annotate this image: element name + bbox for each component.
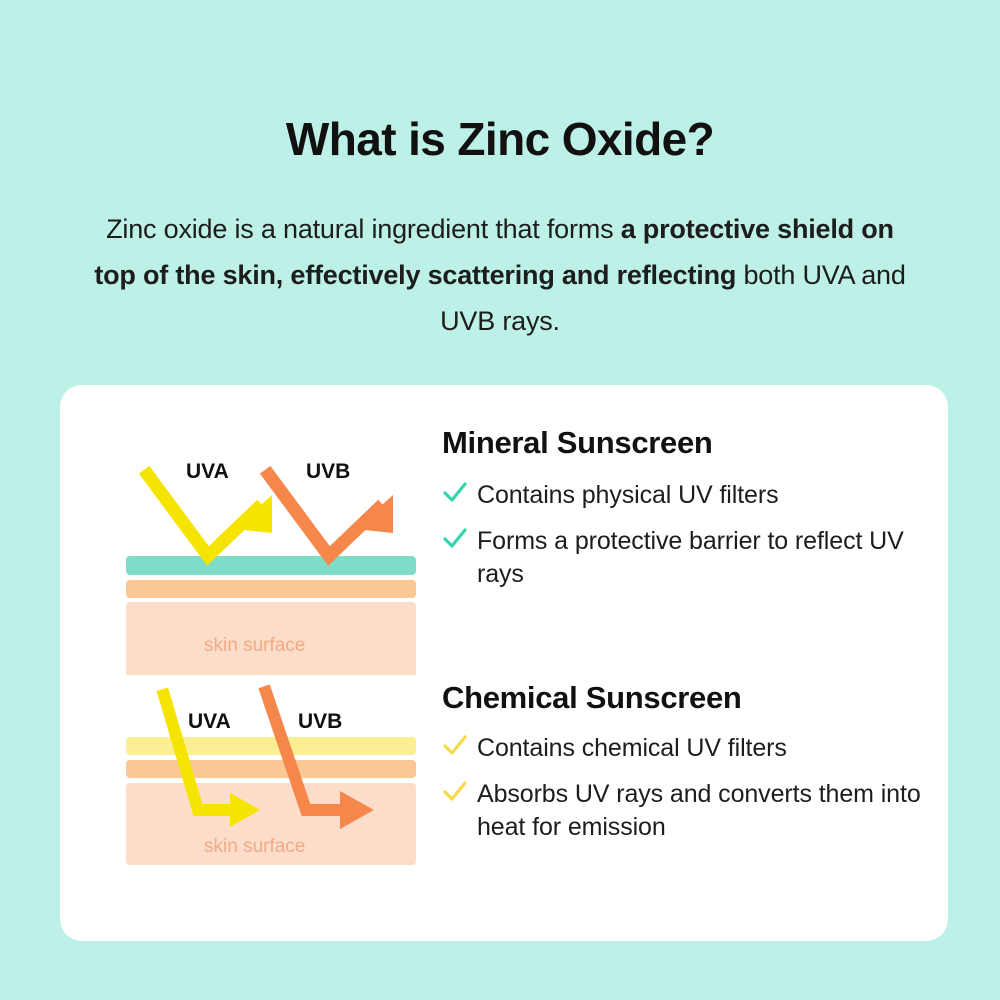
section-mineral-sunscreen: UVA UVB skin surface Mineral Sunscreen C… [60, 425, 948, 675]
chemical-mid-layer [126, 760, 416, 778]
chemical-uva-label: UVA [188, 710, 231, 733]
intro-text-part1: Zinc oxide is a natural ingredient that … [106, 214, 621, 244]
check-icon [442, 780, 468, 810]
comparison-card: UVA UVB skin surface Mineral Sunscreen C… [60, 385, 948, 941]
mineral-skin-surface-label: skin surface [204, 635, 305, 656]
bullet-label: Absorbs UV rays and converts them into h… [477, 778, 922, 844]
infographic-poster: What is Zinc Oxide? Zinc oxide is a natu… [0, 0, 1000, 1000]
mineral-diagram: UVA UVB skin surface [126, 425, 426, 675]
chemical-sunscreen-layer [126, 737, 416, 755]
list-item: Forms a protective barrier to reflect UV… [442, 525, 922, 591]
mineral-section-title: Mineral Sunscreen [442, 425, 922, 461]
list-item: Absorbs UV rays and converts them into h… [442, 778, 922, 844]
chemical-diagram: UVA UVB skin surface [126, 680, 426, 930]
mineral-bullet-list: Contains physical UV filters Forms a pro… [442, 479, 922, 591]
chemical-section-title: Chemical Sunscreen [442, 680, 922, 716]
page-title: What is Zinc Oxide? [0, 112, 1000, 166]
uvb-reflected-arrow [269, 475, 393, 556]
mineral-uvb-label: UVB [306, 460, 350, 483]
mineral-uva-label: UVA [186, 460, 229, 483]
mineral-sunscreen-layer [126, 556, 416, 575]
list-item: Contains physical UV filters [442, 479, 922, 512]
intro-paragraph: Zinc oxide is a natural ingredient that … [88, 206, 912, 344]
section-chemical-sunscreen: UVA UVB skin surface Chemical Sunscreen … [60, 680, 948, 920]
chemical-skin-surface-label: skin surface [204, 836, 305, 857]
bullet-label: Contains chemical UV filters [477, 732, 787, 765]
chemical-uvb-label: UVB [298, 710, 342, 733]
check-icon [442, 734, 468, 764]
uva-reflected-arrow [148, 475, 272, 556]
chemical-text-column: Chemical Sunscreen Contains chemical UV … [442, 680, 922, 857]
mineral-text-column: Mineral Sunscreen Contains physical UV f… [442, 425, 922, 604]
check-icon [442, 481, 468, 511]
bullet-label: Contains physical UV filters [477, 479, 779, 512]
bullet-label: Forms a protective barrier to reflect UV… [477, 525, 922, 591]
chemical-bullet-list: Contains chemical UV filters Absorbs UV … [442, 732, 922, 844]
list-item: Contains chemical UV filters [442, 732, 922, 765]
check-icon [442, 527, 468, 557]
mineral-mid-layer [126, 580, 416, 598]
